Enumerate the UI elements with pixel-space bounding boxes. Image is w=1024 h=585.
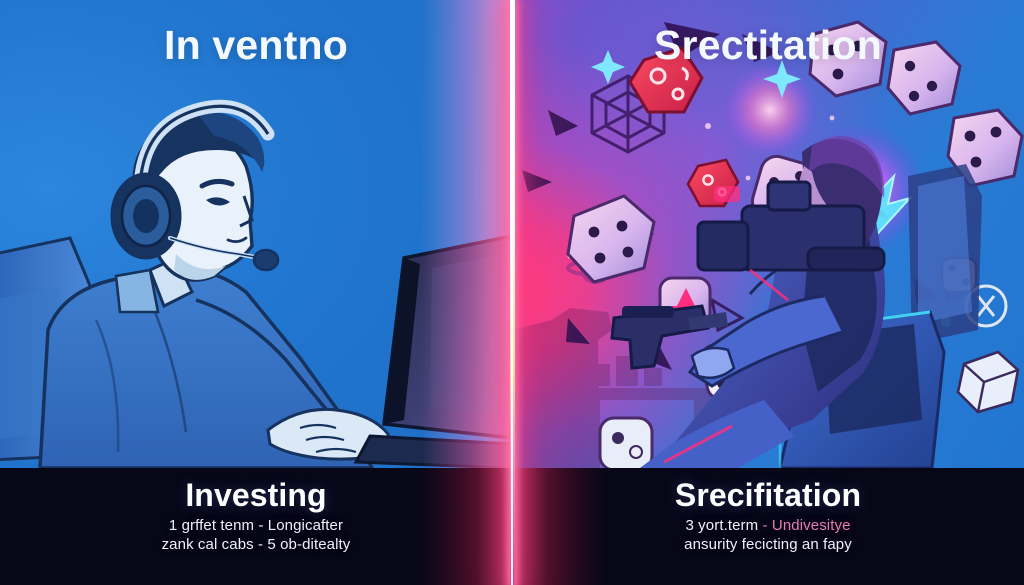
- caption-investing-heading: Investing: [0, 477, 512, 514]
- right-panel-speculation: [512, 0, 1024, 468]
- caption-investing-line-2: zank cal cabs - 5 ob-ditealty: [0, 536, 512, 553]
- caption-investing: Investing 1 grffet tenm - Longicafter za…: [0, 468, 512, 585]
- cube-icon: [958, 352, 1018, 412]
- d6-dice-desk-icon: [600, 418, 652, 468]
- caption-speculation-line-1-accent: - Undivesitye: [758, 517, 850, 534]
- right-panel-title: Srectitation: [512, 22, 1024, 69]
- neon-center-divider: [510, 0, 515, 585]
- left-panel-investing: [0, 0, 512, 468]
- gamer-illustration: [512, 0, 1024, 468]
- caption-speculation: Srecifitation 3 yort.term - Undivesitye …: [512, 468, 1024, 585]
- divider-core: [511, 0, 513, 585]
- caption-speculation-line-2: ansurity fecicting an fapy: [512, 536, 1024, 553]
- caption-speculation-line-1-white: 3 yort.term: [685, 517, 758, 534]
- left-panel-title: In ventno: [0, 22, 512, 69]
- caption-speculation-heading: Srecifitation: [512, 477, 1024, 514]
- caption-investing-line-1: 1 grffet tenm - Longicafter: [0, 517, 512, 534]
- left-panel-edge-glow: [422, 0, 512, 468]
- comparison-infographic: In ventno Srectitation Investing 1 grffe…: [0, 0, 1024, 585]
- d6-dice-large-left-icon: [568, 196, 654, 282]
- caption-speculation-line-1: 3 yort.term - Undivesitye: [512, 517, 1024, 534]
